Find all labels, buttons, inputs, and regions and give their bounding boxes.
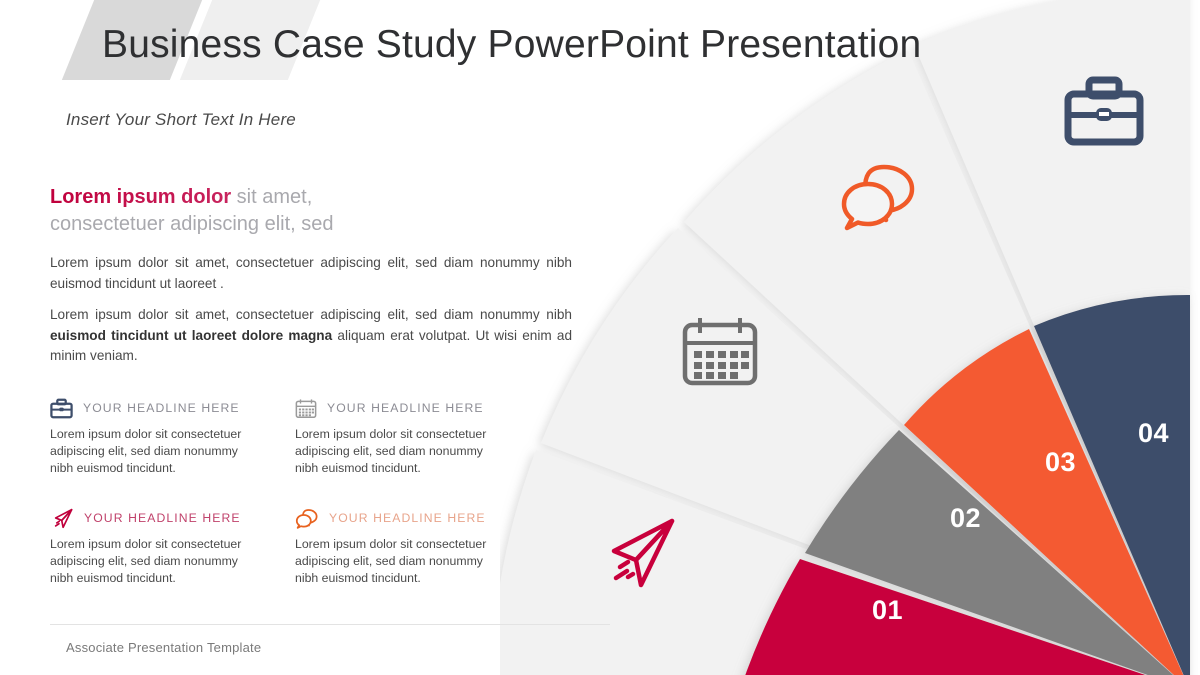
feature-item-title: YOUR HEADLINE HERE: [327, 401, 484, 415]
briefcase-icon: [50, 398, 73, 419]
chat-bubbles-icon: [838, 160, 920, 237]
body-paragraph-2: Lorem ipsum dolor sit amet, consectetuer…: [50, 305, 572, 367]
body-paragraph-1: Lorem ipsum dolor sit amet, consectetuer…: [50, 253, 572, 294]
lead-heading: Lorem ipsum dolor sit amet, consectetuer…: [50, 184, 570, 238]
page-title: Business Case Study PowerPoint Presentat…: [102, 22, 921, 68]
feature-item-header: YOUR HEADLINE HERE: [295, 506, 525, 530]
body-paragraph-2-a: Lorem ipsum dolor sit amet, consectetuer…: [50, 307, 572, 322]
paper-plane-icon: [50, 508, 74, 529]
fan-segment-label-04: 04: [1138, 418, 1169, 449]
feature-item-header: YOUR HEADLINE HERE: [50, 396, 280, 420]
paper-plane-icon: [594, 515, 680, 596]
feature-item-briefcase[interactable]: YOUR HEADLINE HERE Lorem ipsum dolor sit…: [50, 396, 280, 477]
page-subtitle: Insert Your Short Text In Here: [66, 110, 296, 130]
feature-item-header: YOUR HEADLINE HERE: [50, 506, 280, 530]
footer-divider: [50, 624, 610, 625]
fan-segment-label-03: 03: [1045, 447, 1076, 478]
lead-heading-line1: Lorem ipsum dolor sit amet,: [50, 184, 570, 211]
calendar-icon: [295, 398, 317, 419]
feature-item-title: YOUR HEADLINE HERE: [84, 511, 241, 525]
lead-heading-rest: sit amet,: [231, 186, 312, 208]
feature-item-calendar[interactable]: YOUR HEADLINE HERE Lorem ipsum dolor sit…: [295, 396, 525, 477]
lead-heading-line2: consectetuer adipiscing elit, sed: [50, 211, 570, 238]
footer-label: Associate Presentation Template: [66, 640, 261, 655]
feature-item-header: YOUR HEADLINE HERE: [295, 396, 525, 420]
briefcase-icon: [1063, 75, 1145, 152]
calendar-icon: [680, 315, 760, 392]
feature-item-body: Lorem ipsum dolor sit consectetuer adipi…: [50, 426, 258, 477]
feature-item-paper-plane[interactable]: YOUR HEADLINE HERE Lorem ipsum dolor sit…: [50, 506, 280, 587]
fan-segment-label-02: 02: [950, 503, 981, 534]
feature-item-body: Lorem ipsum dolor sit consectetuer adipi…: [295, 426, 503, 477]
feature-item-body: Lorem ipsum dolor sit consectetuer adipi…: [50, 536, 258, 587]
feature-item-body: Lorem ipsum dolor sit consectetuer adipi…: [295, 536, 503, 587]
chat-bubbles-icon: [295, 508, 319, 529]
feature-item-chat[interactable]: YOUR HEADLINE HERE Lorem ipsum dolor sit…: [295, 506, 525, 587]
fan-segment-label-01: 01: [872, 595, 903, 626]
lead-heading-strong: Lorem ipsum dolor: [50, 186, 231, 208]
feature-item-title: YOUR HEADLINE HERE: [329, 511, 486, 525]
slide-canvas: 01 02 03 04 Business Case Study PowerPoi…: [0, 0, 1200, 675]
body-paragraph-2-bold: euismod tincidunt ut laoreet dolore magn…: [50, 328, 332, 343]
feature-item-title: YOUR HEADLINE HERE: [83, 401, 240, 415]
